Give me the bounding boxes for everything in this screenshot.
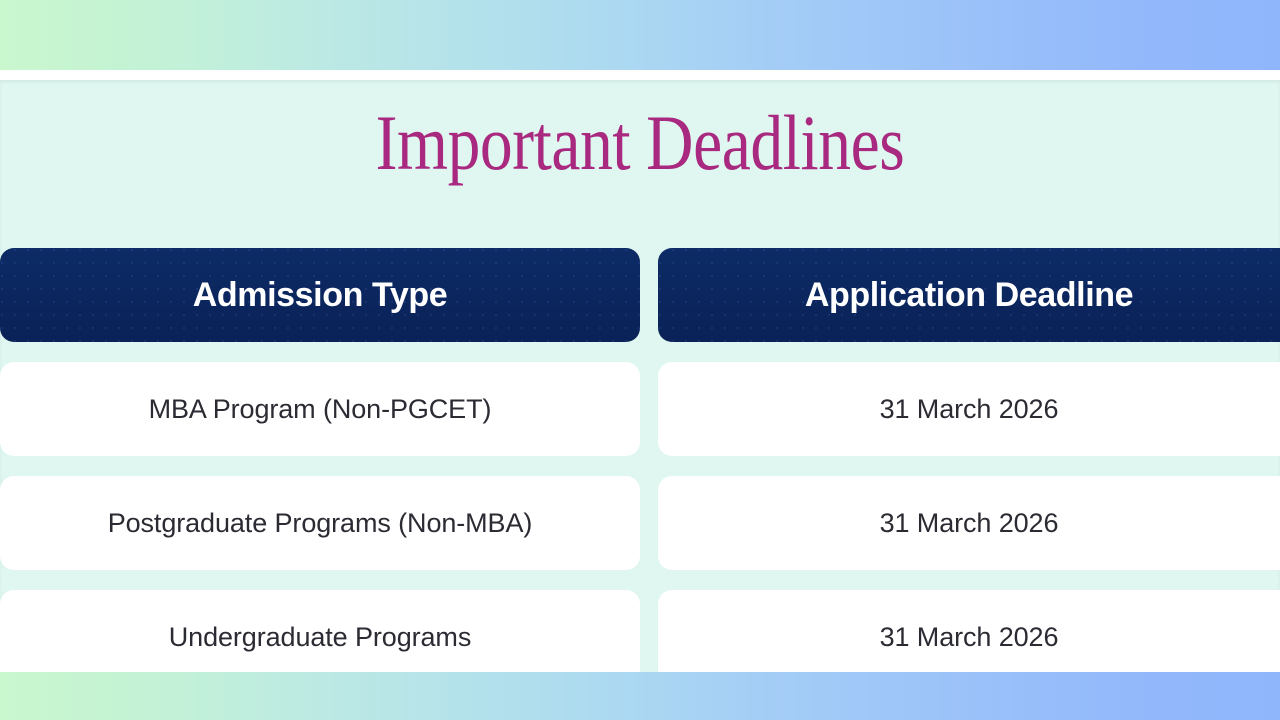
column-header-application-deadline: Application Deadline	[658, 248, 1280, 342]
cell-admission-type: Postgraduate Programs (Non-MBA)	[0, 476, 640, 570]
table-row: Postgraduate Programs (Non-MBA) 31 March…	[0, 476, 1280, 570]
cell-application-deadline: 31 March 2026	[658, 476, 1280, 570]
table-row: Undergraduate Programs 31 March 2026	[0, 590, 1280, 672]
column-header-admission-type: Admission Type	[0, 248, 640, 342]
top-gradient-band	[0, 0, 1280, 70]
page-title: Important Deadlines	[102, 102, 1177, 185]
cell-admission-type: MBA Program (Non-PGCET)	[0, 362, 640, 456]
deadlines-table: Admission Type Application Deadline MBA …	[0, 248, 1280, 672]
cell-admission-type: Undergraduate Programs	[0, 590, 640, 672]
content-surface: Important Deadlines Admission Type Appli…	[0, 80, 1280, 672]
cell-application-deadline: 31 March 2026	[658, 590, 1280, 672]
deadlines-page: Important Deadlines Admission Type Appli…	[0, 0, 1280, 720]
cell-application-deadline: 31 March 2026	[658, 362, 1280, 456]
bottom-gradient-band	[0, 672, 1280, 720]
table-header-row: Admission Type Application Deadline	[0, 248, 1280, 342]
table-row: MBA Program (Non-PGCET) 31 March 2026	[0, 362, 1280, 456]
